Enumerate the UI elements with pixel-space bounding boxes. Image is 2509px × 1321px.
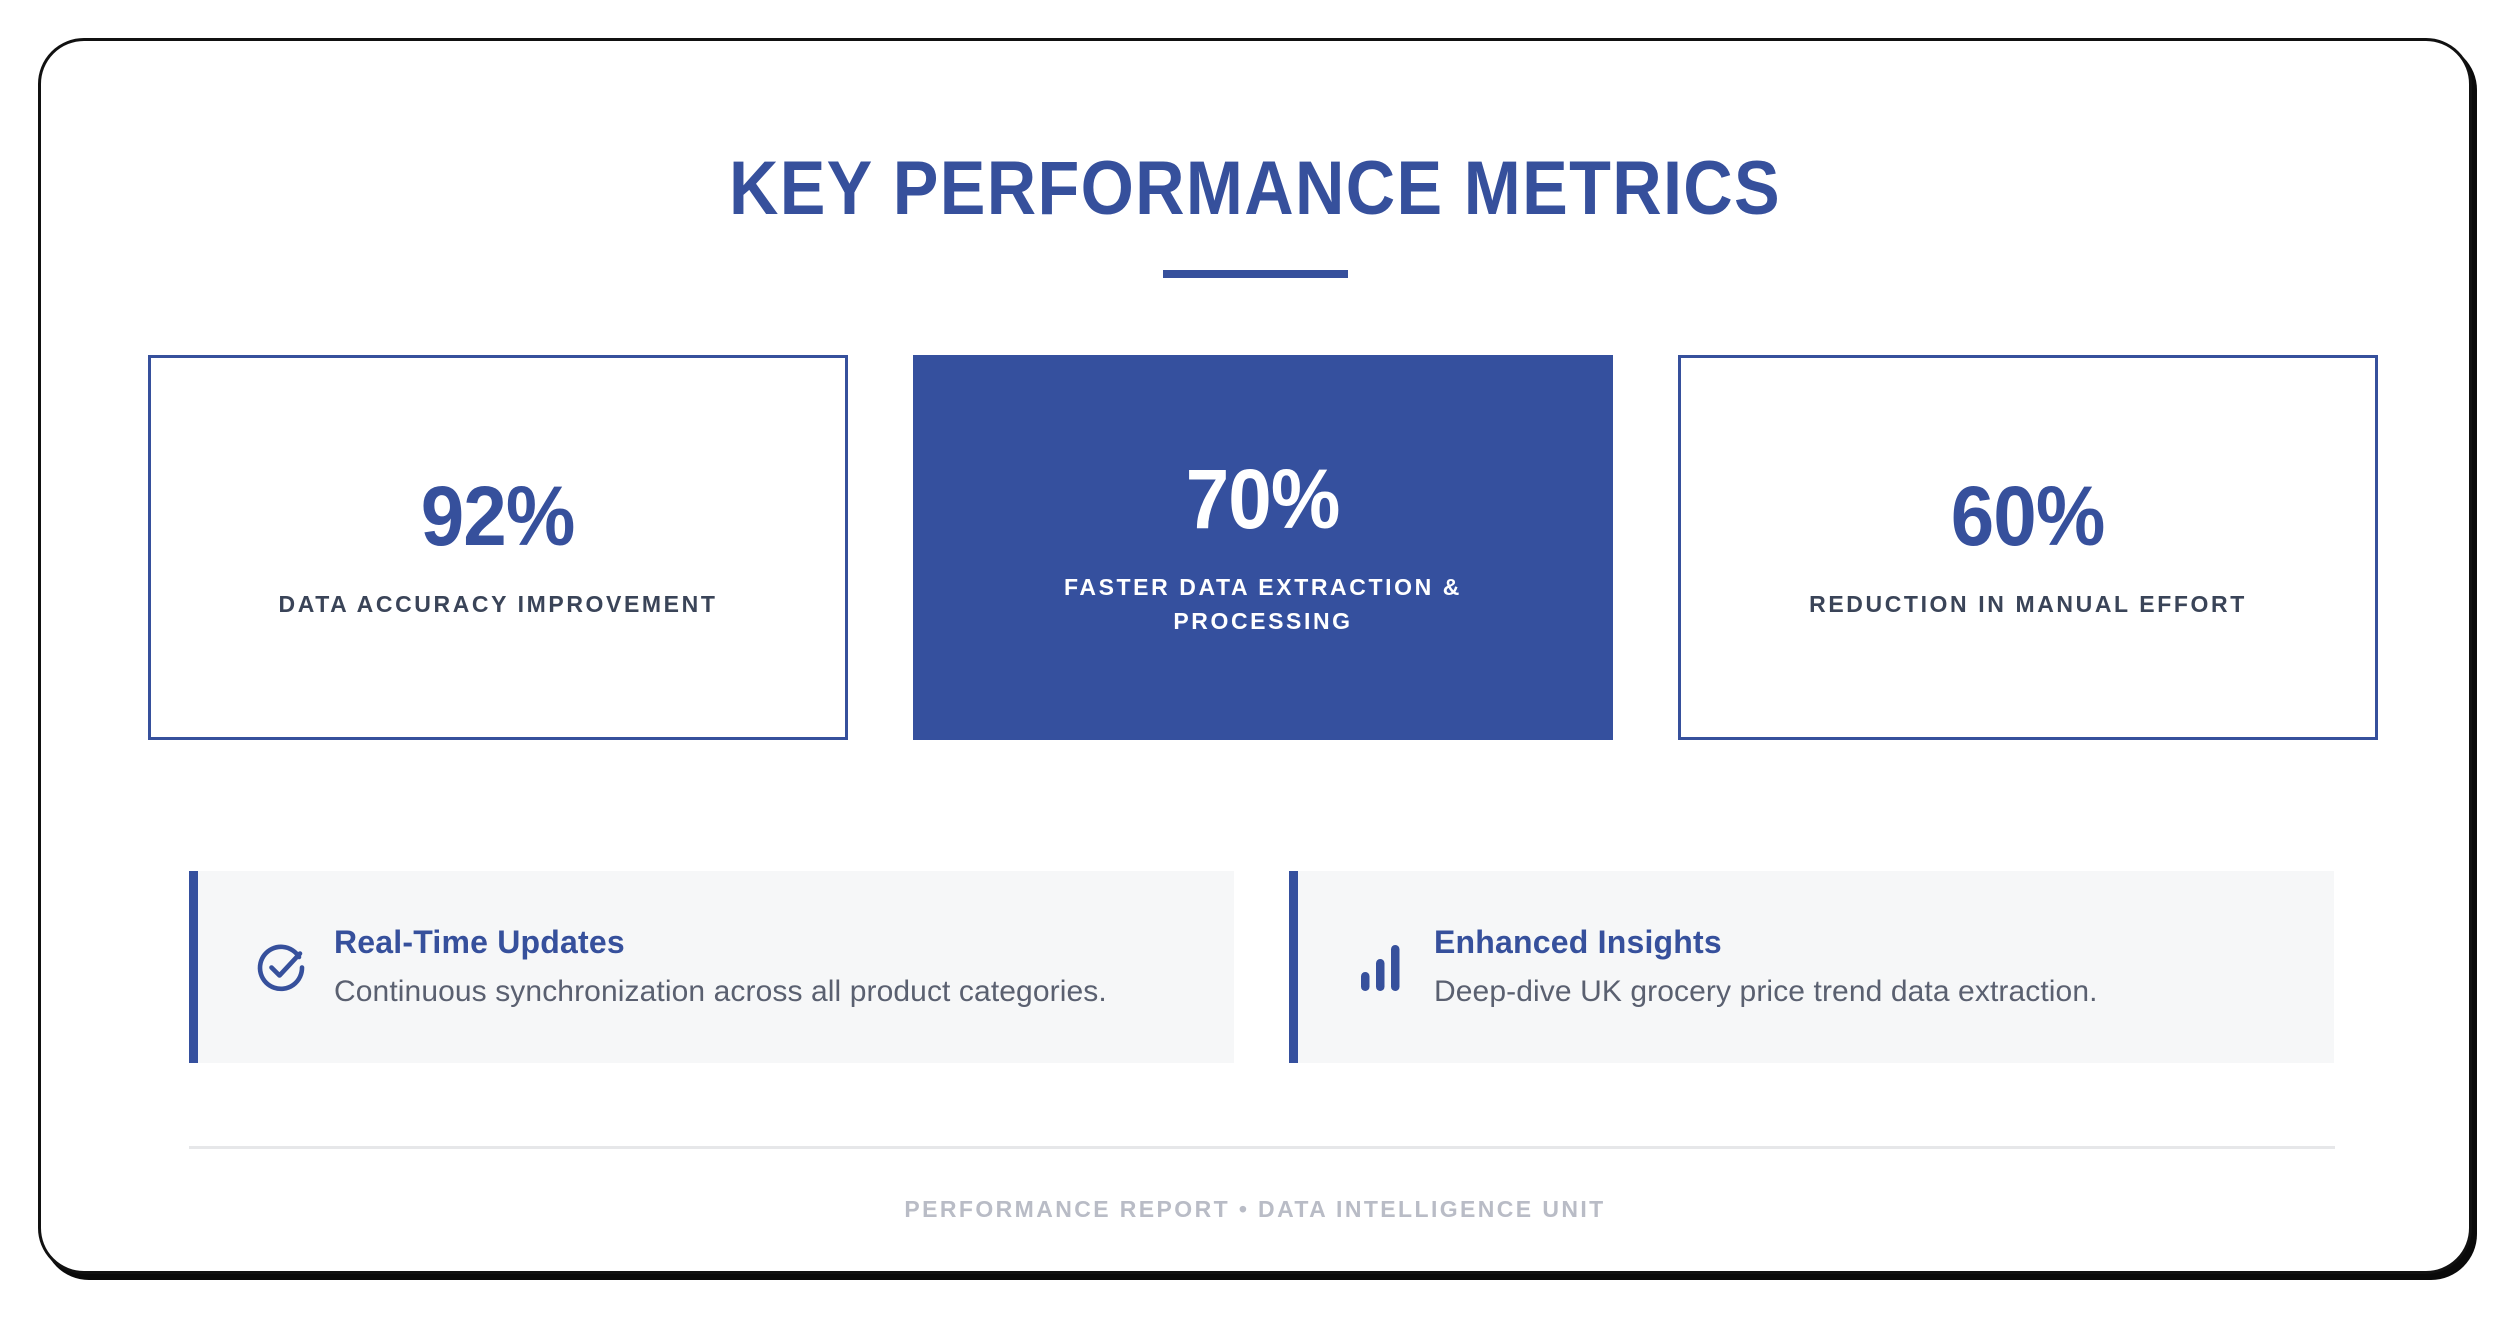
bar-chart-icon [1350, 936, 1412, 998]
metric-label: FASTER DATA EXTRACTION & PROCESSING [1028, 571, 1498, 638]
feature-group: Real-Time Updates Continuous synchroniza… [189, 871, 2334, 1063]
check-circle-icon [250, 936, 312, 998]
metric-card-3[interactable]: 60% REDUCTION IN MANUAL EFFORT [1678, 355, 2378, 740]
page-title: KEY PERFORMANCE METRICS [162, 151, 2347, 227]
footer-divider [189, 1146, 2335, 1149]
metric-value: 70% [1186, 457, 1340, 541]
metric-value: 92% [421, 474, 575, 558]
metric-value: 60% [1951, 474, 2105, 558]
metric-card-group: 92% DATA ACCURACY IMPROVEMENT 70% FASTER… [148, 355, 2378, 740]
slide-frame: KEY PERFORMANCE METRICS 92% DATA ACCURAC… [38, 38, 2472, 1274]
metric-label: DATA ACCURACY IMPROVEMENT [279, 588, 718, 621]
metric-card-2[interactable]: 70% FASTER DATA EXTRACTION & PROCESSING [913, 355, 1613, 740]
feature-title: Enhanced Insights [1434, 923, 2098, 961]
feature-description: Deep-dive UK grocery price trend data ex… [1434, 973, 2098, 1011]
metric-card-1[interactable]: 92% DATA ACCURACY IMPROVEMENT [148, 355, 848, 740]
metric-label: REDUCTION IN MANUAL EFFORT [1809, 588, 2247, 621]
feature-title: Real-Time Updates [334, 923, 1107, 961]
slide-canvas: KEY PERFORMANCE METRICS 92% DATA ACCURAC… [38, 38, 2472, 1274]
feature-text: Enhanced Insights Deep-dive UK grocery p… [1434, 923, 2098, 1011]
title-accent-rule [1163, 270, 1348, 278]
title-block: KEY PERFORMANCE METRICS [41, 41, 2469, 278]
feature-card-enhanced-insights[interactable]: Enhanced Insights Deep-dive UK grocery p… [1289, 871, 2334, 1063]
footer-caption: PERFORMANCE REPORT • DATA INTELLIGENCE U… [41, 1196, 2469, 1223]
feature-text: Real-Time Updates Continuous synchroniza… [334, 923, 1107, 1011]
feature-description: Continuous synchronization across all pr… [334, 973, 1107, 1011]
feature-card-real-time-updates[interactable]: Real-Time Updates Continuous synchroniza… [189, 871, 1234, 1063]
